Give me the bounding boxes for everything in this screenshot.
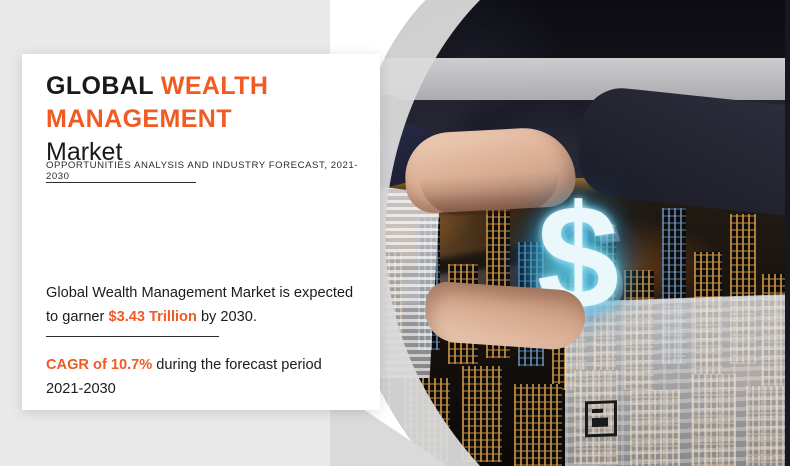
infographic-canvas: $ GLOBAL WEALTH MANAGEMENT Market OPPORT… — [0, 0, 790, 466]
title-word-management: MANAGEMENT — [46, 105, 232, 133]
title-word-global: GLOBAL — [46, 72, 161, 100]
content-card: GLOBAL WEALTH MANAGEMENT Market OPPORTUN… — [22, 54, 380, 410]
building — [462, 366, 502, 462]
subtitle: OPPORTUNITIES ANALYSIS AND INDUSTRY FORE… — [46, 160, 366, 182]
title-word-wealth: WEALTH — [161, 72, 268, 100]
document-icon — [585, 400, 617, 437]
divider-top — [46, 182, 196, 183]
hand-lower — [423, 280, 587, 351]
market-value-statement: Global Wealth Management Market is expec… — [46, 282, 364, 329]
cagr-statement: CAGR of 10.7% during the forecast period… — [46, 354, 346, 401]
market-value-highlight: $3.43 Trillion — [108, 309, 196, 325]
cagr-highlight: CAGR of 10.7% — [46, 357, 152, 373]
building — [514, 384, 562, 466]
statement-tail: by 2030. — [197, 309, 257, 325]
divider-middle — [46, 336, 219, 337]
page-title: GLOBAL WEALTH MANAGEMENT Market — [46, 70, 346, 169]
right-edge-strip — [785, 0, 790, 466]
